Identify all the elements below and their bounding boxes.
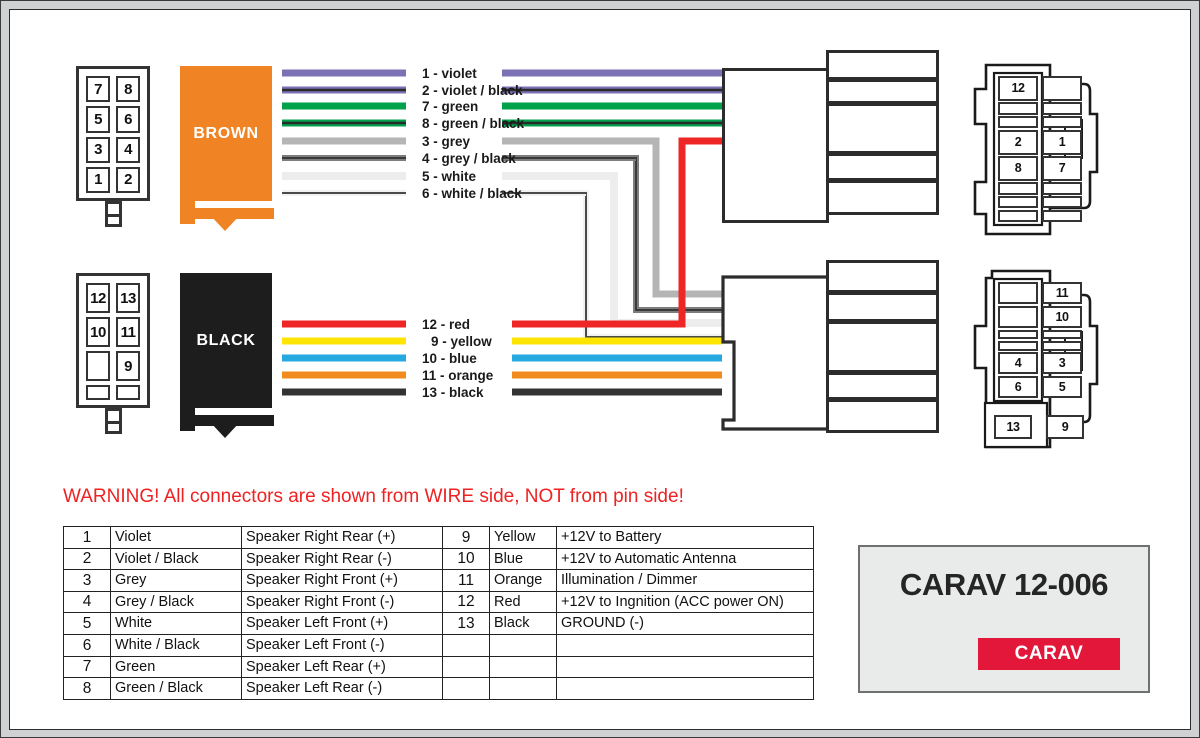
pin-13: 13 [116, 283, 140, 313]
cell-num2 [443, 634, 490, 656]
cell-num: 4 [64, 591, 111, 613]
wire-label-10: 10 - blue [422, 351, 477, 366]
wire-label-4: 4 - grey / black [422, 151, 516, 166]
diagram-canvas: 1 - violet 2 - violet / black 7 - green … [9, 9, 1191, 730]
plug-shell-top [722, 68, 829, 223]
iso-top-pin-1: 1 [1042, 130, 1082, 155]
table-row: 6 White / Black Speaker Left Front (-) [64, 634, 814, 656]
cell-color2: Yellow [490, 527, 557, 549]
product-code: CARAV 12-006 [860, 567, 1148, 603]
cell-color: Grey / Black [111, 591, 242, 613]
table-row: 3 Grey Speaker Right Front (+) 11 Orange… [64, 570, 814, 592]
wire-label-8: 8 - green / black [422, 116, 524, 131]
plug-segment-top-1 [826, 50, 939, 80]
pin-3: 3 [86, 137, 110, 163]
cell-fn: Speaker Left Front (+) [242, 613, 443, 635]
cell-num: 7 [64, 656, 111, 678]
iso-top-pin-r7c2 [1042, 196, 1082, 208]
cell-num2: 13 [443, 613, 490, 635]
cell-color: Grey [111, 570, 242, 592]
plug-segment-bottom-4 [826, 372, 939, 400]
wire-label-13: 13 - black [422, 385, 484, 400]
iso-top-pin-r7c1 [998, 196, 1038, 208]
cell-fn: Speaker Left Front (-) [242, 634, 443, 656]
cell-color: Violet [111, 527, 242, 549]
cell-color2: Red [490, 591, 557, 613]
cell-color2: Orange [490, 570, 557, 592]
wire-label-6: 6 - white / black [422, 186, 522, 201]
iso-bottom-pin-9: 9 [1046, 415, 1084, 439]
plug-segment-bottom-5 [826, 399, 939, 433]
iso-bottom-pin-5: 5 [1042, 376, 1082, 398]
table-row: 1 Violet Speaker Right Rear (+) 9 Yellow… [64, 527, 814, 549]
wire-label-7: 7 - green [422, 99, 478, 114]
pin-7: 7 [86, 76, 110, 102]
cell-fn2: +12V to Ingnition (ACC power ON) [557, 591, 814, 613]
iso-top-pin-r6c1 [998, 182, 1038, 194]
iso-top-pin-12: 12 [998, 76, 1038, 101]
brown-pin-housing: 7 8 5 6 3 4 1 2 [76, 66, 150, 201]
iso-bottom-pin-4: 4 [998, 352, 1038, 374]
cell-fn2: GROUND (-) [557, 613, 814, 635]
iso-connector-top-pins: 12 2 1 8 7 [998, 76, 1082, 222]
cell-num: 5 [64, 613, 111, 635]
cell-num: 1 [64, 527, 111, 549]
brown-pin-grid: 7 8 5 6 3 4 1 2 [86, 76, 140, 193]
plug-segment-bottom-2 [826, 292, 939, 322]
brown-connector-label: BROWN [193, 125, 258, 143]
cell-fn2: Illumination / Dimmer [557, 570, 814, 592]
iso-top-pin-8: 8 [998, 156, 1038, 181]
black-connector-label: BLACK [197, 332, 256, 350]
iso-top-pin-7: 7 [1042, 156, 1082, 181]
brown-connector-notch [210, 215, 240, 231]
wire-label-11: 11 - orange [422, 368, 493, 383]
cell-fn: Speaker Right Rear (-) [242, 548, 443, 570]
cell-fn2 [557, 634, 814, 656]
black-pin-stem-divider [105, 421, 122, 424]
pin-12: 12 [86, 283, 110, 313]
table-row: 7 Green Speaker Left Rear (+) [64, 656, 814, 678]
wire-label-9: 9 - yellow [431, 334, 492, 349]
plug-segment-bottom-1 [826, 260, 939, 293]
pin-11: 11 [116, 317, 140, 347]
pin-blank-1 [86, 351, 110, 381]
iso-top-pin-r3c1 [998, 116, 1038, 128]
plug-segment-top-5 [826, 180, 939, 215]
pin-9: 9 [116, 351, 140, 381]
cell-color2 [490, 678, 557, 700]
pin-blank-3 [116, 385, 140, 400]
cell-fn: Speaker Left Rear (-) [242, 678, 443, 700]
iso-bottom-pin-13: 13 [994, 415, 1032, 439]
cell-color2 [490, 634, 557, 656]
cell-color: White [111, 613, 242, 635]
iso-bottom-pin-r3c1 [998, 330, 1038, 340]
wire-label-2: 2 - violet / black [422, 83, 523, 98]
iso-connector-bottom-pins: 11 10 4 3 6 5 [998, 282, 1082, 398]
iso-bottom-pin-r3c2 [1042, 330, 1082, 340]
iso-bottom-pin-r4c2 [1042, 341, 1082, 351]
iso-bottom-pin-3: 3 [1042, 352, 1082, 374]
wire-label-12: 12 - red [422, 317, 470, 332]
cell-color2 [490, 656, 557, 678]
iso-top-pin-r8c1 [998, 210, 1038, 222]
table-row: 4 Grey / Black Speaker Right Front (-) 1… [64, 591, 814, 613]
wire-label-5: 5 - white [422, 169, 476, 184]
iso-top-pin-r2c2 [1042, 102, 1082, 114]
black-pin-grid: 12 13 10 11 9 [86, 283, 140, 400]
iso-top-pin-r8c2 [1042, 210, 1082, 222]
plug-segment-top-3 [826, 103, 939, 154]
cell-fn2 [557, 678, 814, 700]
diagram-page: 1 - violet 2 - violet / black 7 - green … [0, 0, 1200, 738]
pin-table-body: 1 Violet Speaker Right Rear (+) 9 Yellow… [64, 527, 814, 700]
product-info-box: CARAV 12-006 CARAV [858, 545, 1150, 693]
pin-1: 1 [86, 167, 110, 193]
cell-num: 8 [64, 678, 111, 700]
table-row: 8 Green / Black Speaker Left Rear (-) [64, 678, 814, 700]
cell-num: 2 [64, 548, 111, 570]
iso-bottom-pin-6: 6 [998, 376, 1038, 398]
iso-top-pin-r1c2 [1042, 76, 1082, 101]
pin-5: 5 [86, 106, 110, 132]
iso-bottom-wide-pins: 13 9 [994, 415, 1086, 439]
plug-segment-bottom-3 [826, 321, 939, 373]
cell-num2 [443, 678, 490, 700]
iso-bottom-pin-r2c1 [998, 306, 1038, 328]
plug-segment-top-2 [826, 79, 939, 104]
table-row: 5 White Speaker Left Front (+) 13 Black … [64, 613, 814, 635]
wire-label-3: 3 - grey [422, 134, 470, 149]
iso-bottom-pin-10: 10 [1042, 306, 1082, 328]
cell-fn2: +12V to Battery [557, 527, 814, 549]
cell-num2: 12 [443, 591, 490, 613]
pin-blank-2 [86, 385, 110, 400]
cell-color: Violet / Black [111, 548, 242, 570]
iso-top-pin-r6c2 [1042, 182, 1082, 194]
cell-fn: Speaker Left Rear (+) [242, 656, 443, 678]
iso-bottom-pin-11: 11 [1042, 282, 1082, 304]
iso-top-pin-2: 2 [998, 130, 1038, 155]
iso-bottom-pin-r4c1 [998, 341, 1038, 351]
black-connector-notch [210, 422, 240, 438]
cell-fn: Speaker Right Front (-) [242, 591, 443, 613]
brand-logo: CARAV [978, 638, 1120, 670]
iso-bottom-pin-r1c1 [998, 282, 1038, 304]
cell-color: Green / Black [111, 678, 242, 700]
pin-6: 6 [116, 106, 140, 132]
black-pin-housing: 12 13 10 11 9 [76, 273, 150, 408]
cell-color2: Blue [490, 548, 557, 570]
cell-num: 3 [64, 570, 111, 592]
pin-10: 10 [86, 317, 110, 347]
plug-shell-bottom [720, 274, 832, 432]
pin-assignment-table: 1 Violet Speaker Right Rear (+) 9 Yellow… [63, 526, 814, 700]
cell-fn: Speaker Right Rear (+) [242, 527, 443, 549]
brown-connector-body: BROWN [180, 66, 272, 201]
warning-text: WARNING! All connectors are shown from W… [63, 486, 684, 508]
iso-top-pin-r2c1 [998, 102, 1038, 114]
cell-color: White / Black [111, 634, 242, 656]
brown-pin-stem-divider [105, 214, 122, 217]
iso-top-pin-r3c2 [1042, 116, 1082, 128]
cell-fn: Speaker Right Front (+) [242, 570, 443, 592]
cell-num2: 10 [443, 548, 490, 570]
cell-fn2 [557, 656, 814, 678]
cell-fn2: +12V to Automatic Antenna [557, 548, 814, 570]
plug-segment-top-4 [826, 153, 939, 181]
black-connector-body: BLACK [180, 273, 272, 408]
cell-color2: Black [490, 613, 557, 635]
cell-num2 [443, 656, 490, 678]
cell-num2: 11 [443, 570, 490, 592]
table-row: 2 Violet / Black Speaker Right Rear (-) … [64, 548, 814, 570]
pin-4: 4 [116, 137, 140, 163]
cell-color: Green [111, 656, 242, 678]
cell-num: 6 [64, 634, 111, 656]
cell-num2: 9 [443, 527, 490, 549]
pin-2: 2 [116, 167, 140, 193]
pin-8: 8 [116, 76, 140, 102]
wire-label-1: 1 - violet [422, 66, 477, 81]
